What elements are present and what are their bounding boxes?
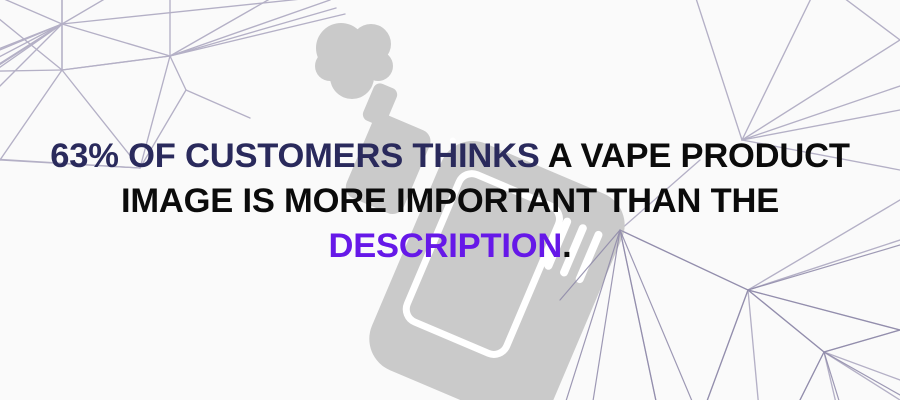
low-poly-mesh-foreground: [0, 0, 900, 400]
vape-stat-banner: 63% OF CUSTOMERS THINKS A VAPE PRODUCT I…: [0, 0, 900, 400]
